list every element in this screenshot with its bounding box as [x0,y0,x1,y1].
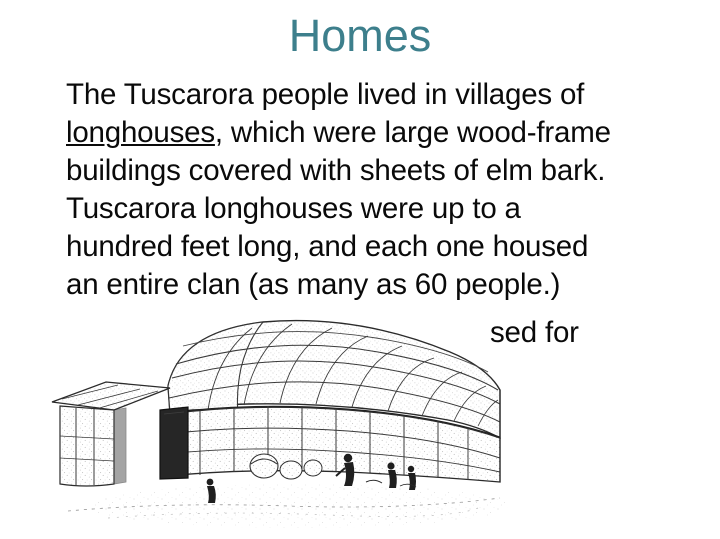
body-line-2-rest: , which were large wood-frame [215,116,611,149]
ground-shading [68,484,508,528]
body-line-5: hundred feet long, and each one housed [66,228,686,266]
entrance-porch [52,382,170,486]
body-line-6: an entire clan (as many as 60 people.) [66,266,686,304]
body-line-3: buildings covered with sheets of elm bar… [66,152,686,190]
body-line-4: Tuscarora longhouses were up to a [66,190,686,228]
longhouse-drawing-icon [48,306,518,531]
underlined-term: longhouses [66,116,215,149]
body-line-1: The Tuscarora people lived in villages o… [66,76,686,114]
longhouse-illustration [48,306,518,531]
body-paragraph: The Tuscarora people lived in villages o… [66,76,686,304]
longhouse-body [168,321,500,482]
body-line-2: longhouses, which were large wood-frame [66,114,686,152]
doorway [160,407,188,479]
slide-canvas: Homes The Tuscarora people lived in vill… [0,0,720,539]
page-title: Homes [0,12,720,59]
